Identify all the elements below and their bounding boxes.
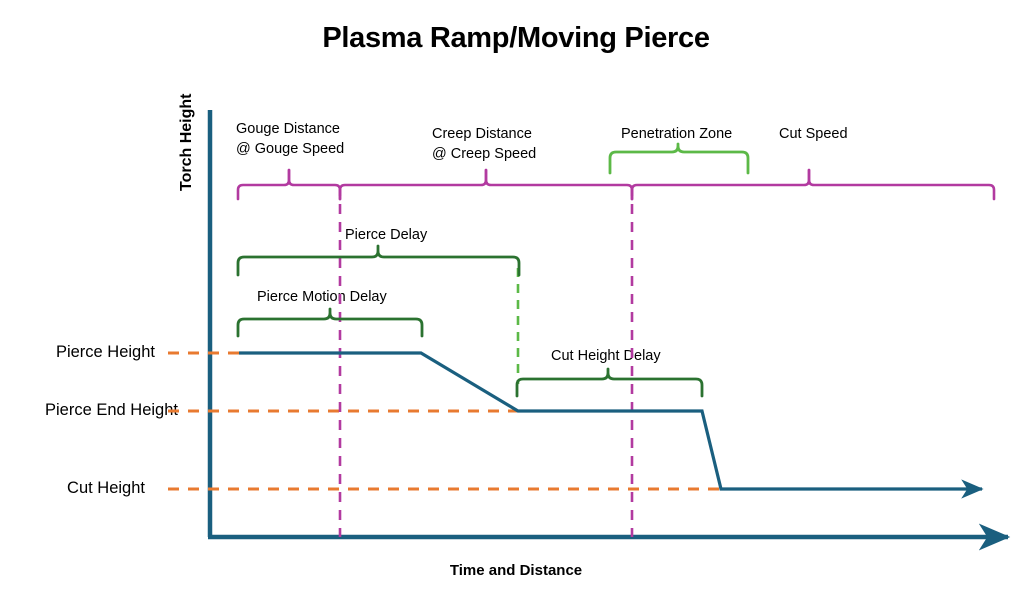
bracket-gouge-left — [238, 170, 289, 199]
axis-lines — [208, 110, 1008, 537]
diagram-root: Plasma Ramp/Moving Pierce Torch Height T… — [0, 0, 1032, 596]
torch-height-profile — [239, 353, 982, 489]
event-markers — [340, 186, 632, 537]
bracket-cut-speed-left — [632, 170, 809, 199]
bracket-pierce-delay — [238, 246, 519, 275]
bracket-pierce-motion-delay — [238, 309, 422, 336]
bracket-creep-left — [340, 170, 486, 199]
torch-height-profile-path — [239, 353, 982, 489]
bracket-gouge-right — [289, 170, 340, 199]
bracket-penetration-zone — [610, 144, 748, 173]
bracket-cut-height-delay — [517, 369, 702, 396]
reference-lines — [168, 353, 722, 489]
bracket-cut-speed-right — [809, 170, 994, 199]
phase-bracket-chain-magenta — [238, 170, 994, 199]
diagram-vector-layer — [0, 0, 1032, 596]
